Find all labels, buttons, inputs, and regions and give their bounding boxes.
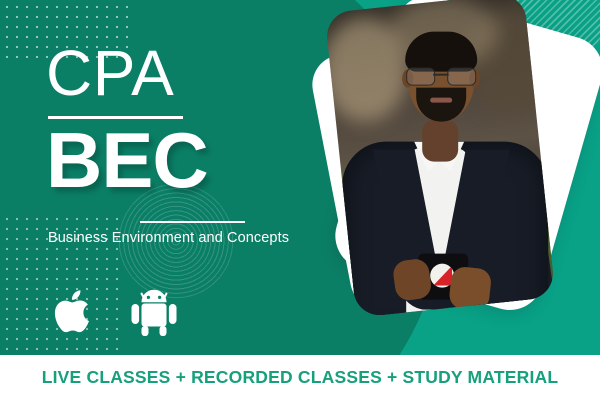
subtitle-divider — [140, 221, 245, 223]
instructor-photo — [296, 0, 600, 356]
photo-frame — [325, 0, 556, 318]
instructor-hand-left — [392, 257, 433, 302]
instructor-hand-right — [448, 266, 492, 312]
course-subtitle: Business Environment and Concepts — [48, 230, 289, 246]
footer-tagline: LIVE CLASSES + RECORDED CLASSES + STUDY … — [42, 367, 559, 388]
headline-block: CPA BEC — [46, 44, 208, 199]
paper-code-title: BEC — [46, 121, 208, 199]
instructor-hair — [405, 32, 477, 72]
exam-code-title: CPA — [46, 44, 208, 102]
instructor-beard — [416, 88, 466, 122]
footer-bar: LIVE CLASSES + RECORDED CLASSES + STUDY … — [0, 355, 600, 400]
platform-icons — [52, 283, 182, 339]
apple-logo-icon — [52, 284, 98, 338]
instructor-mouth — [430, 98, 452, 103]
android-logo-icon — [126, 283, 182, 339]
eyeglasses-icon — [406, 68, 476, 84]
eyeglass-lens-left — [406, 68, 435, 86]
instructor-neck — [422, 120, 458, 162]
photo-content — [325, 0, 556, 318]
eyeglass-lens-right — [447, 68, 476, 86]
course-promo-banner: CPA BEC Business Environment and Concept… — [0, 0, 600, 400]
